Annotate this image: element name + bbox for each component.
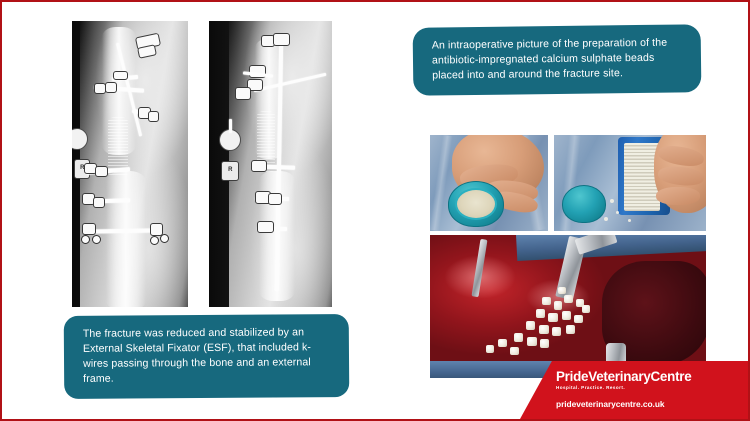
finger-6: [656, 187, 700, 205]
xray-image-mediolateral: R: [207, 19, 334, 309]
xray-clamp-lateral-2: [148, 111, 159, 122]
bead-crumb-1: [610, 199, 614, 203]
logo-word-centre: Centre: [651, 369, 692, 384]
bead-crumb-2: [616, 211, 619, 214]
bead-in-wound: [510, 347, 519, 355]
bead-in-wound: [564, 295, 573, 303]
bead-in-wound: [498, 339, 507, 347]
bead-in-wound: [542, 297, 551, 305]
xray-screw-head-1: [81, 235, 90, 244]
bead-in-wound: [558, 287, 566, 294]
bead-in-wound: [562, 311, 571, 320]
xray-screw-head-2: [92, 235, 101, 244]
xray-clamp-upper-2: [105, 82, 117, 93]
callout-fixator-description: The fracture was reduced and stabilized …: [64, 314, 350, 399]
xray-clamp-lower-5: [82, 223, 96, 235]
xray-clamp-mid-3: [235, 87, 251, 100]
logo-wordmark: PrideVeterinaryCentre: [556, 370, 734, 383]
bead-in-wound: [574, 315, 583, 323]
presentation-slide: R: [0, 0, 750, 421]
callout-intraoperative-description: An intraoperative picture of the prepara…: [413, 24, 702, 96]
bead-in-wound: [566, 325, 575, 334]
bead-in-wound: [552, 327, 561, 336]
teal-mixing-bowl-2: [562, 185, 606, 223]
logo-banner: PrideVeterinaryCentre Hospital. Practice…: [520, 361, 748, 419]
xray-screw-head-3: [150, 236, 159, 245]
bead-in-wound: [514, 333, 523, 342]
bead-crumb-4: [628, 219, 631, 222]
bead-crumb-3: [604, 217, 608, 221]
calcium-sulphate-powder: [455, 188, 497, 220]
bead-in-wound: [539, 325, 549, 334]
xray-clamp-lower-2: [95, 166, 108, 177]
logo-tagline: Hospital. Practice. Resort.: [556, 385, 734, 390]
xray-canvas-right: R: [209, 21, 332, 307]
logo-website-url[interactable]: prideveterinarycentre.co.uk: [556, 399, 734, 409]
xray-screw-head-4: [160, 234, 169, 243]
xray-clamp-upper-3: [113, 71, 128, 80]
bead-in-wound: [536, 309, 545, 318]
xray-marker-stem: [229, 119, 232, 133]
photo-fracture-site-with-beads: [430, 235, 706, 378]
xray-canvas-left: R: [72, 21, 188, 307]
logo-word-pride: Pride: [556, 369, 588, 384]
bead-in-wound: [548, 313, 558, 322]
xray-marker-r-right: R: [221, 161, 239, 181]
bead-in-wound: [554, 301, 562, 310]
xray-clamp-lower-r3: [268, 193, 282, 205]
xray-image-craniocaudal: R: [70, 19, 190, 309]
photo-calcium-sulphate-powder-bowl: [430, 135, 548, 231]
bead-in-wound: [526, 321, 535, 330]
xray-clamp-lower-r4: [257, 221, 274, 233]
xray-bone-distal: [106, 171, 146, 309]
bead-in-wound: [582, 305, 590, 313]
bead-in-wound: [527, 337, 537, 346]
bead-in-wound: [540, 339, 549, 348]
xray-clamp-lower-4: [93, 197, 105, 208]
photo-bead-mould-tray: [554, 135, 706, 231]
bead-in-wound: [486, 345, 494, 353]
logo-word-veterinary: Veterinary: [588, 369, 650, 384]
xray-clamp-top-2: [273, 33, 290, 46]
xray-clamp-lower-r1: [251, 160, 267, 172]
